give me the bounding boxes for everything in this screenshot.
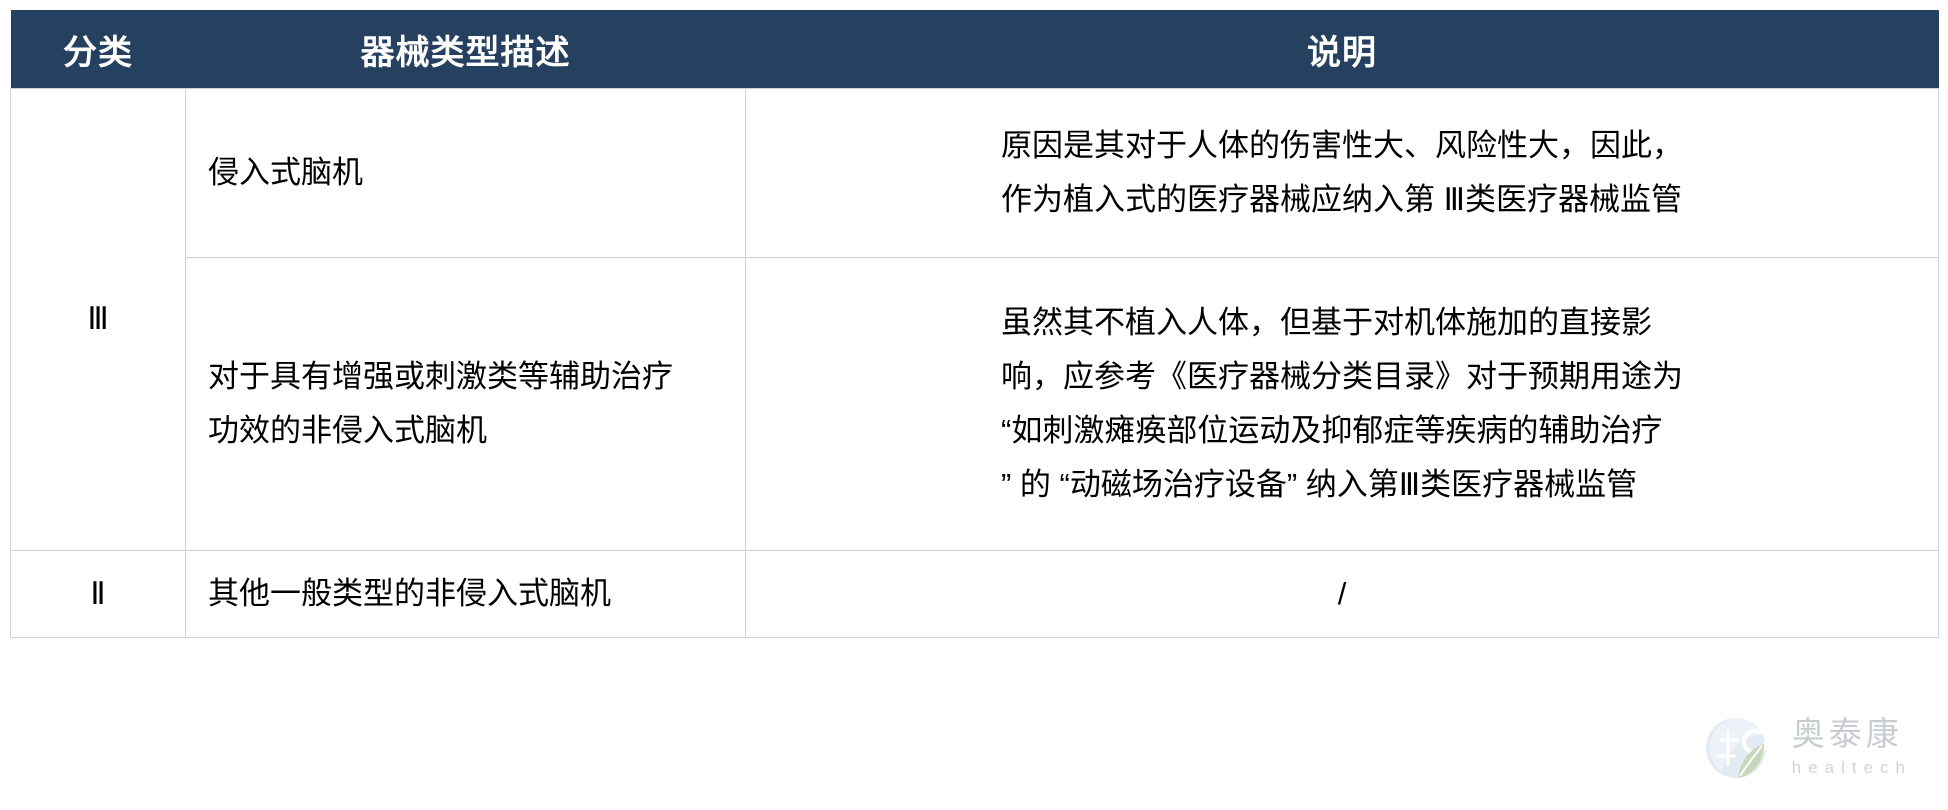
note-body: 虽然其不植入人体，但基于对机体施加的直接影 响，应参考《医疗器械分类目录》对于预…: [1001, 296, 1683, 513]
table-header: 分类 器械类型描述 说明: [11, 10, 1939, 89]
column-header-class: 分类: [11, 10, 186, 89]
note-line: 响，应参考《医疗器械分类目录》对于预期用途为: [1001, 350, 1683, 404]
cell-note-none: /: [746, 551, 1939, 638]
desc-line: 功效的非侵入式脑机: [208, 404, 723, 458]
note-line: 虽然其不植入人体，但基于对机体施加的直接影: [1001, 296, 1683, 350]
table-row: 对于具有增强或刺激类等辅助治疗 功效的非侵入式脑机 虽然其不植入人体，但基于对机…: [11, 258, 1939, 551]
header-row: 分类 器械类型描述 说明: [11, 10, 1939, 89]
table-row: Ⅱ 其他一般类型的非侵入式脑机 /: [11, 551, 1939, 638]
cell-device-type-noninvasive-therapeutic: 对于具有增强或刺激类等辅助治疗 功效的非侵入式脑机: [186, 258, 746, 551]
cell-device-type-invasive: 侵入式脑机: [186, 89, 746, 258]
table-body: Ⅲ 侵入式脑机 原因是其对于人体的伤害性大、风险性大，因此， 作为植入式的医疗器…: [11, 89, 1939, 638]
table-row: Ⅲ 侵入式脑机 原因是其对于人体的伤害性大、风险性大，因此， 作为植入式的医疗器…: [11, 89, 1939, 258]
device-classification-table: 分类 器械类型描述 说明 Ⅲ 侵入式脑机 原因是其对于人体的伤害性大、风险性大，…: [10, 10, 1939, 638]
cell-note-invasive: 原因是其对于人体的伤害性大、风险性大，因此， 作为植入式的医疗器械应纳入第 Ⅲ类…: [746, 89, 1939, 258]
column-header-device-type: 器械类型描述: [186, 10, 746, 89]
cell-class-iii: Ⅲ: [11, 89, 186, 551]
desc-line: 对于具有增强或刺激类等辅助治疗: [208, 350, 723, 404]
note-line: ” 的 “动磁场治疗设备” 纳入第Ⅲ类医疗器械监管: [1001, 458, 1683, 512]
cell-note-noninvasive-therapeutic: 虽然其不植入人体，但基于对机体施加的直接影 响，应参考《医疗器械分类目录》对于预…: [746, 258, 1939, 551]
cell-device-type-noninvasive-general: 其他一般类型的非侵入式脑机: [186, 551, 746, 638]
classification-table-container: 分类 器械类型描述 说明 Ⅲ 侵入式脑机 原因是其对于人体的伤害性大、风险性大，…: [10, 10, 1938, 790]
column-header-note: 说明: [746, 10, 1939, 89]
note-line: “如刺激瘫痪部位运动及抑郁症等疾病的辅助治疗: [1001, 404, 1683, 458]
note-line: 作为植入式的医疗器械应纳入第 Ⅲ类医疗器械监管: [1001, 173, 1683, 227]
note-line: 原因是其对于人体的伤害性大、风险性大，因此，: [1001, 119, 1683, 173]
cell-class-ii: Ⅱ: [11, 551, 186, 638]
note-body: 原因是其对于人体的伤害性大、风险性大，因此， 作为植入式的医疗器械应纳入第 Ⅲ类…: [1001, 119, 1683, 228]
